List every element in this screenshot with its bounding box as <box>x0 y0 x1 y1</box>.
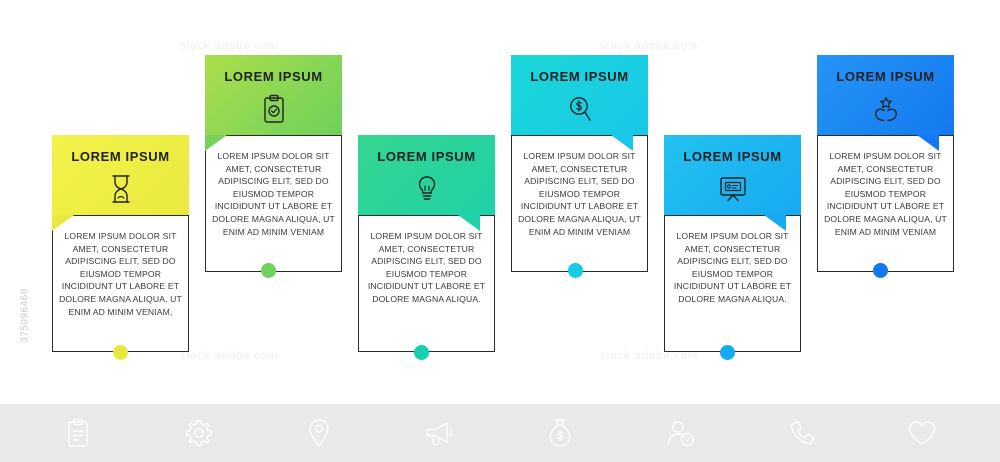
hands-star-icon <box>871 95 901 123</box>
step-5-description: LOREM IPSUM DOLOR SIT AMET, CONSECTETUR … <box>668 230 797 306</box>
step-1-title: LOREM IPSUM <box>52 149 189 164</box>
search-dollar-icon <box>567 94 593 124</box>
clipboard-icon[interactable] <box>60 415 96 451</box>
step-2-title: LOREM IPSUM <box>205 69 342 84</box>
phone-icon[interactable] <box>783 415 819 451</box>
step-6-tail <box>917 135 939 151</box>
infographic-canvas: 375096460 stock.adobe.com stock.adobe.co… <box>0 0 1000 462</box>
megaphone-icon[interactable] <box>422 415 458 451</box>
step-5-dot <box>720 345 735 360</box>
step-4-tail <box>611 135 633 151</box>
presentation-board-icon <box>718 175 748 203</box>
watermark-tile: stock.adobe.com <box>180 350 278 362</box>
hourglass-icon <box>109 174 133 204</box>
step-6-dot <box>873 263 888 278</box>
step-4-title: LOREM IPSUM <box>511 69 648 84</box>
heart-icon[interactable] <box>904 415 940 451</box>
watermark-image-id: 375096460 <box>20 261 31 371</box>
step-2-tail <box>205 135 227 151</box>
bottom-icon-bar <box>0 404 1000 462</box>
step-3-tail <box>458 215 480 231</box>
lightbulb-icon <box>415 174 439 204</box>
user-check-icon[interactable] <box>663 415 699 451</box>
step-1-description: LOREM IPSUM DOLOR SIT AMET, CONSECTETUR … <box>56 230 185 318</box>
step-3-icon-wrap <box>358 172 495 206</box>
money-bag-icon[interactable] <box>542 415 578 451</box>
step-6-title: LOREM IPSUM <box>817 69 954 84</box>
step-5-title: LOREM IPSUM <box>664 149 801 164</box>
step-1-tail <box>52 215 74 231</box>
step-3-title: LOREM IPSUM <box>358 149 495 164</box>
step-3-description: LOREM IPSUM DOLOR SIT AMET, CONSECTETUR … <box>362 230 491 306</box>
step-3-dot <box>414 345 429 360</box>
step-4-dot <box>568 263 583 278</box>
step-6-icon-wrap <box>817 92 954 126</box>
step-6-description: LOREM IPSUM DOLOR SIT AMET, CONSECTETUR … <box>821 150 950 238</box>
watermark-tile: stock.adobe.com <box>600 40 698 52</box>
gear-icon[interactable] <box>181 415 217 451</box>
watermark-tile: stock.adobe.com <box>180 40 278 52</box>
step-2-icon-wrap <box>205 92 342 126</box>
step-4-description: LOREM IPSUM DOLOR SIT AMET, CONSECTETUR … <box>515 150 644 238</box>
map-pin-icon[interactable] <box>301 415 337 451</box>
step-5-tail <box>764 215 786 231</box>
step-1-icon-wrap <box>52 172 189 206</box>
clipboard-check-icon <box>262 94 286 124</box>
step-1-dot <box>113 345 128 360</box>
step-2-dot <box>261 263 276 278</box>
step-2-description: LOREM IPSUM DOLOR SIT AMET, CONSECTETUR … <box>209 150 338 238</box>
step-5-icon-wrap <box>664 172 801 206</box>
step-4-icon-wrap <box>511 92 648 126</box>
